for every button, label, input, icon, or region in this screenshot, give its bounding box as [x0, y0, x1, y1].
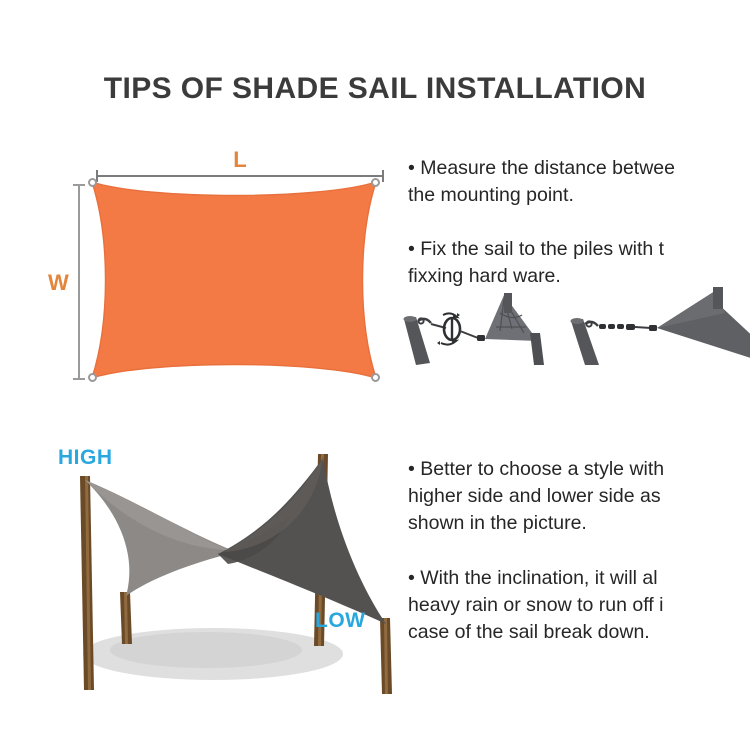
page-title: TIPS OF SHADE SAIL INSTALLATION — [0, 72, 750, 106]
corner-plate — [477, 335, 485, 341]
tip-text-fix-sail-to-piles: • Fix the sail to the piles with t fixxi… — [408, 236, 750, 290]
sail-shape-svg — [88, 178, 380, 382]
post-front-left — [120, 592, 132, 644]
post-left-top-cap — [404, 316, 417, 322]
rectangular-shade-sail-illustration — [88, 178, 380, 382]
ground-shadow-inner — [110, 632, 302, 668]
tip-text-measure-distance: • Measure the distance betwee the mounti… — [408, 155, 750, 209]
hardware-left-svg — [400, 283, 570, 365]
dimension-label-length: L — [96, 147, 384, 173]
hardware-fitting-illustration-right — [565, 283, 750, 370]
label-low: LOW — [315, 609, 365, 633]
post-left — [404, 317, 430, 365]
sail-orange-fabric — [92, 182, 376, 378]
chain-links — [599, 324, 635, 330]
rotation-arrowhead-bottom-icon — [437, 341, 440, 345]
tip-text-choose-style: • Better to choose a style with higher s… — [408, 456, 750, 537]
cable-to-sail — [635, 327, 651, 328]
grommet-bottom-left — [88, 373, 97, 382]
post-right — [530, 333, 544, 365]
canopy-scene-svg — [28, 432, 428, 698]
shackle-ring-icon — [418, 318, 423, 323]
post-apex — [713, 287, 723, 309]
dimension-label-width: W — [48, 270, 69, 296]
grommet-bottom-right — [371, 373, 380, 382]
corner-plate — [649, 325, 657, 331]
post-front-right — [380, 618, 392, 694]
label-high: HIGH — [58, 446, 113, 470]
hardware-fitting-illustration-left — [400, 283, 570, 370]
grommet-top-left — [88, 178, 97, 187]
dimension-line-width — [78, 184, 80, 380]
tip-text-inclination-runoff: • With the inclination, it will al heavy… — [408, 565, 750, 646]
cable-to-sail — [460, 331, 478, 338]
shackle-ring-icon — [586, 321, 591, 326]
hardware-right-svg — [565, 283, 750, 365]
post-left-top-cap — [571, 318, 584, 324]
dimension-line-length — [96, 175, 384, 177]
grommet-top-right — [371, 178, 380, 187]
post-center-top — [504, 293, 512, 313]
hypar-canopy-illustration — [28, 432, 428, 698]
infographic-canvas: TIPS OF SHADE SAIL INSTALLATION L W • Me… — [0, 0, 750, 750]
post-left — [571, 319, 599, 365]
rotation-arrowhead-top-icon — [457, 313, 460, 317]
post-back-left — [80, 476, 94, 690]
